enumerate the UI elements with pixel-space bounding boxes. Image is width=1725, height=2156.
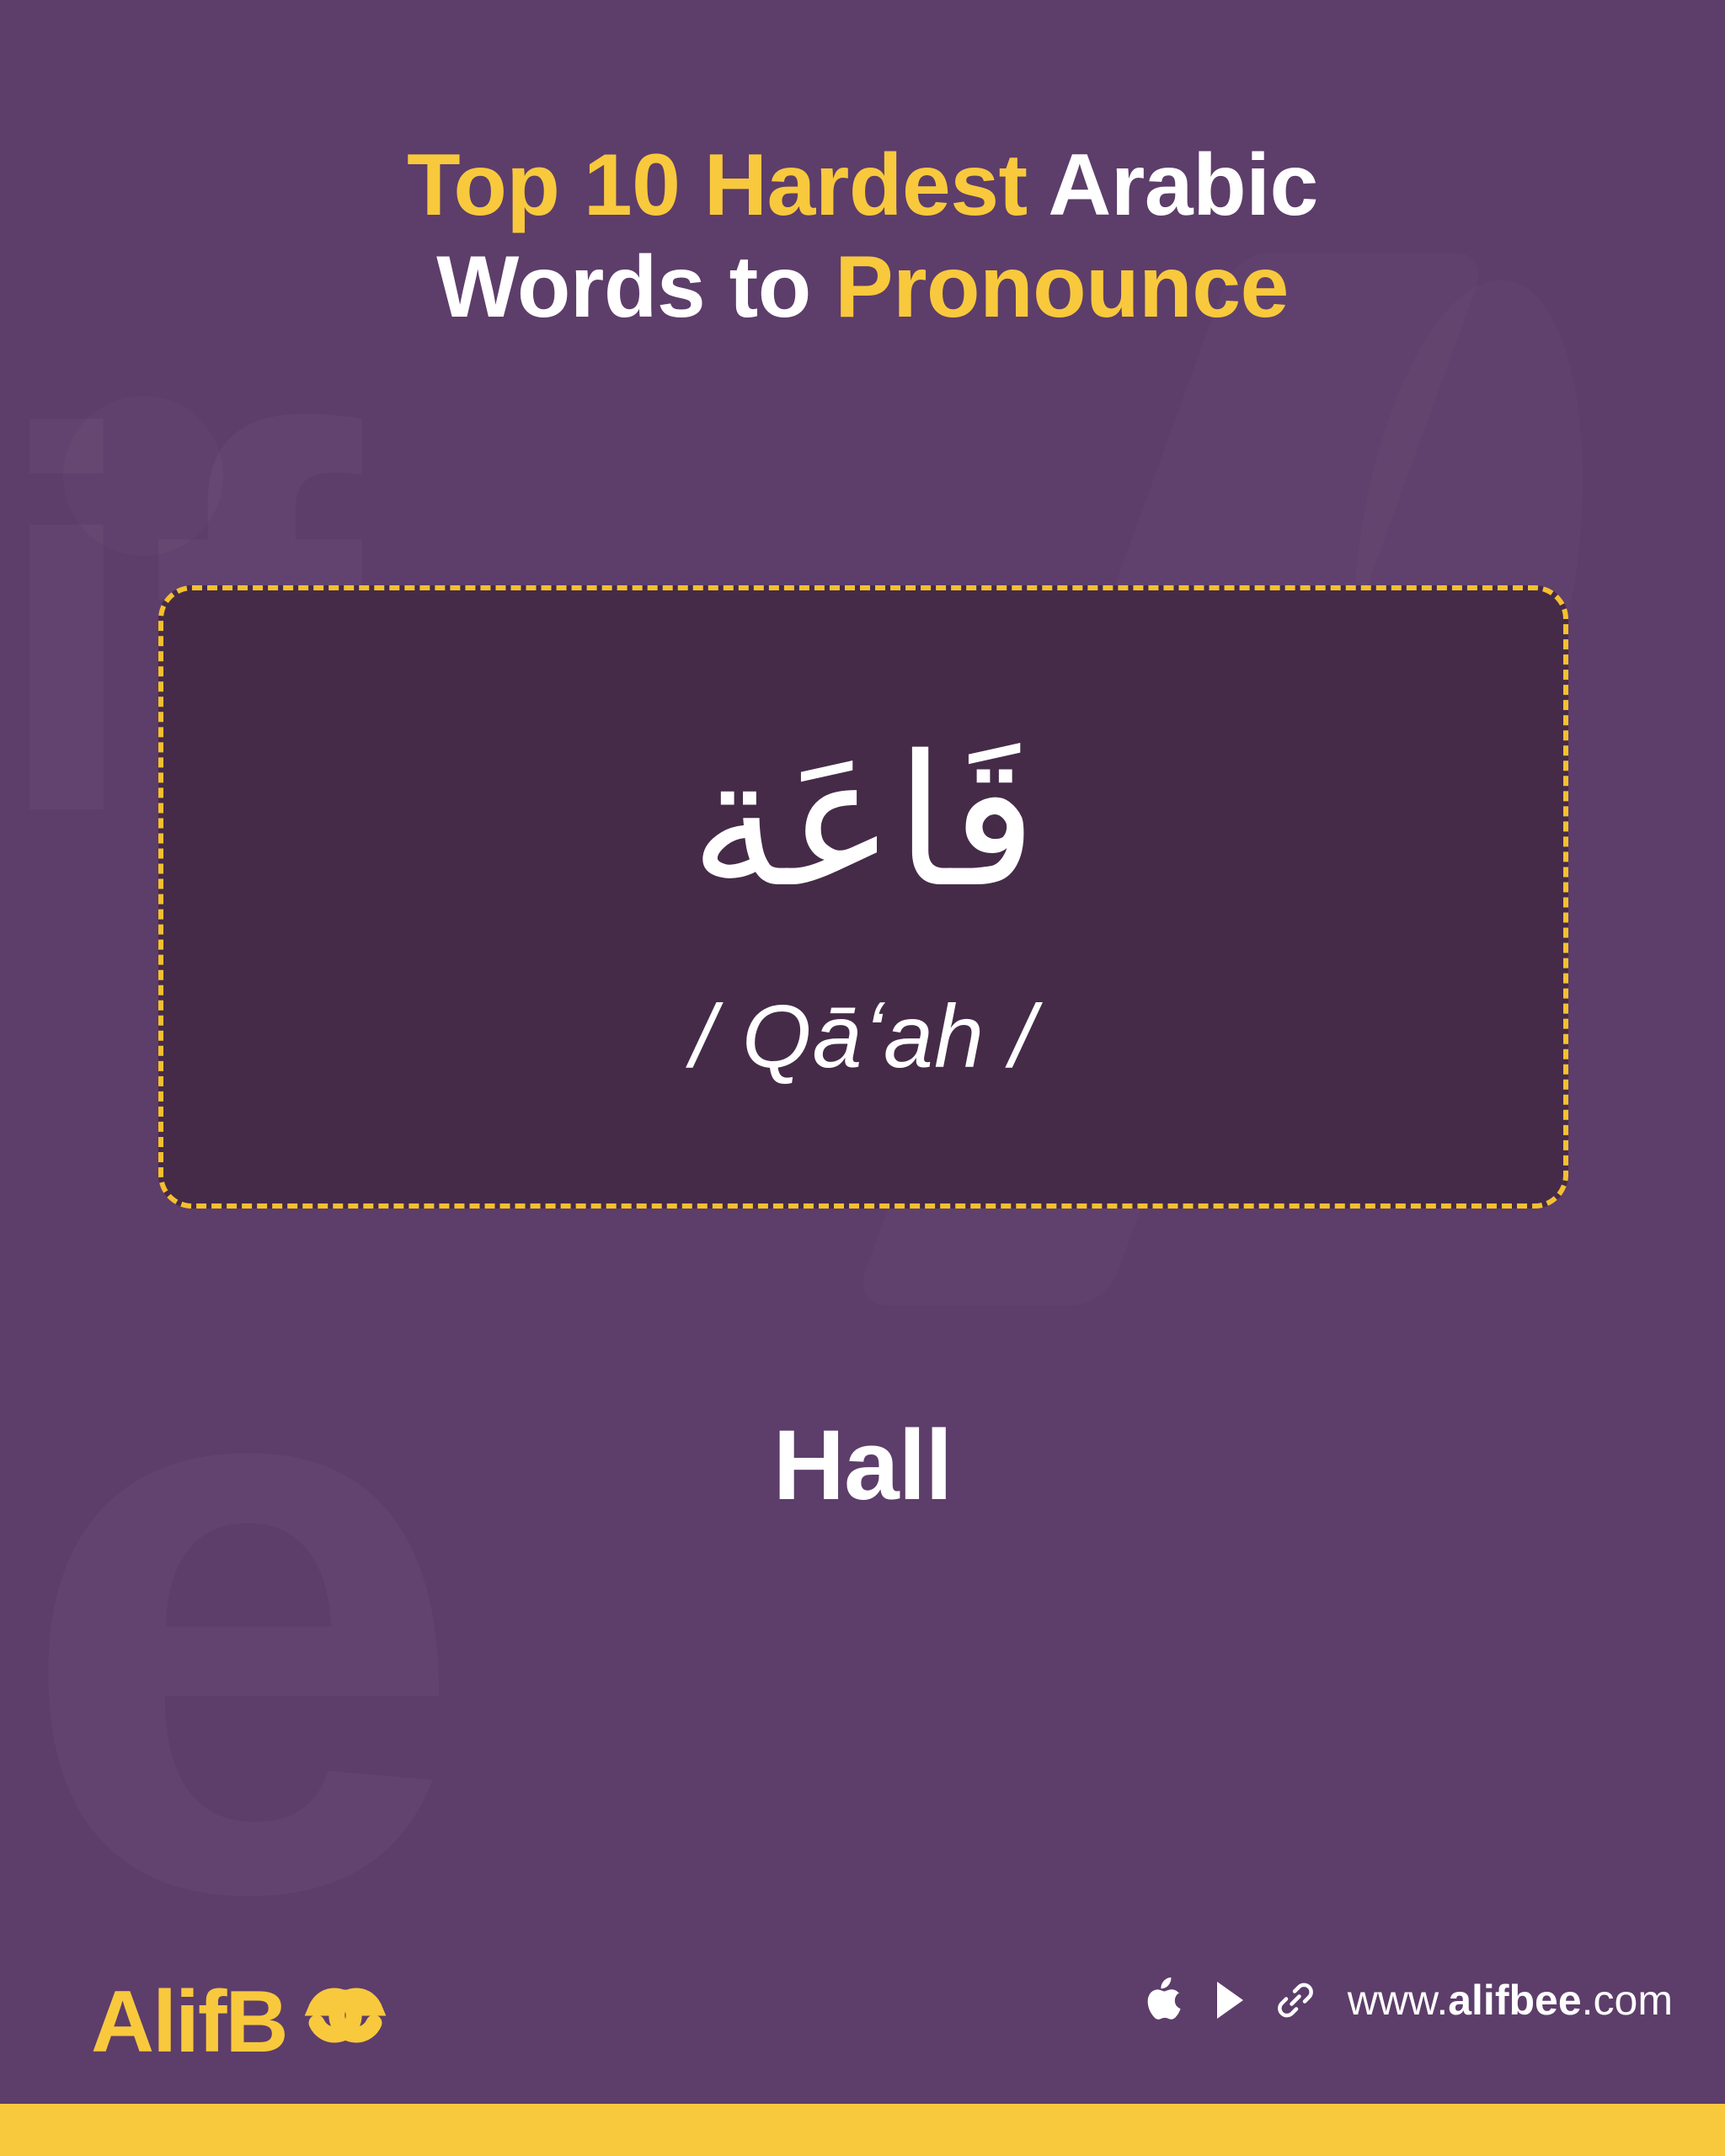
- title-spacer-2: [811, 238, 835, 336]
- word-card: قَاعَة / Qāʻah /: [158, 585, 1568, 1209]
- word-meaning-text: Hall: [0, 1408, 1725, 1523]
- watermark-dot-shape: [63, 396, 223, 556]
- url-suffix: .com: [1582, 1977, 1673, 2024]
- watermark-letter-e: e: [17, 1204, 467, 2013]
- logo-text-b: B: [226, 1978, 287, 2066]
- title-plain-arabic: Arabic: [1048, 136, 1318, 234]
- alifbee-logo: AlifB: [91, 1964, 409, 2066]
- url-prefix: www.: [1348, 1977, 1448, 2024]
- transliteration-text: / Qāʻah /: [691, 986, 1036, 1088]
- title-line-2: Words to Pronounce: [0, 237, 1725, 339]
- website-url[interactable]: www.alifbee.com: [1348, 1976, 1673, 2025]
- logo-text-alif: Alif: [91, 1978, 226, 2066]
- link-icon[interactable]: [1274, 1976, 1317, 2025]
- page-title: Top 10 Hardest Arabic Words to Pronounce: [0, 135, 1725, 338]
- url-brand: alifbee: [1448, 1977, 1581, 2024]
- title-spacer-1: [1028, 136, 1049, 234]
- bottom-gold-bar: [0, 2104, 1725, 2156]
- apple-icon[interactable]: [1142, 1976, 1186, 2025]
- title-line-1: Top 10 Hardest Arabic: [0, 135, 1725, 237]
- google-play-icon[interactable]: [1208, 1976, 1252, 2025]
- poster-canvas: i f e Top 10 Hardest Arabic Words to Pro…: [0, 0, 1725, 2156]
- arabic-word-text: قَاعَة: [690, 721, 1037, 924]
- title-highlight-top10hardest: Top 10 Hardest: [407, 136, 1028, 234]
- watermark-letter-i: i: [0, 354, 142, 893]
- footer-links: www.alifbee.com: [1142, 1976, 1673, 2025]
- title-highlight-pronounce: Pronounce: [835, 238, 1289, 336]
- title-plain-wordsto: Words to: [436, 238, 811, 336]
- logo-text-ee-ligature: [282, 1964, 409, 2066]
- footer: AlifB: [0, 1961, 1725, 2104]
